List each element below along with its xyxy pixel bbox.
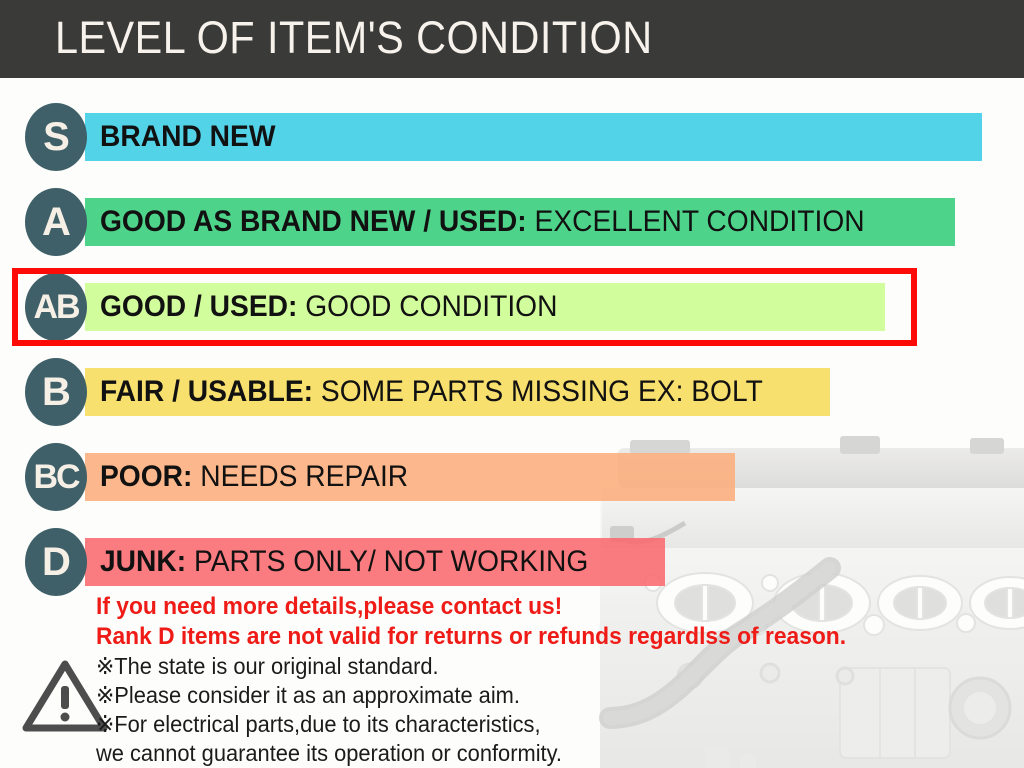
rank-label-a: GOOD AS BRAND NEW / USED: EXCELLENT COND… [100,198,865,246]
rank-label-bold: FAIR / USABLE: [100,375,313,408]
rank-label-bold: POOR: [100,460,192,493]
rank-label-b: FAIR / USABLE: SOME PARTS MISSING EX: BO… [100,368,763,416]
note-black-line: ※The state is our original standard. [96,652,980,681]
rank-label-bold: JUNK: [100,545,186,578]
note-black-line: ※For electrical parts,due to its charact… [96,710,980,739]
rank-badge-bc: BC [25,443,87,511]
footer-notes: If you need more details,please contact … [96,592,1024,768]
rank-badge-a: A [25,188,87,256]
rank-label-regular: SOME PARTS MISSING EX: BOLT [313,375,763,408]
condition-level-infographic: LEVEL OF ITEM'S CONDITION BRAND NEWSGOOD… [0,0,1024,768]
note-black-line: we cannot guarantee its operation or con… [96,739,980,768]
rank-label-s: BRAND NEW [100,113,275,161]
rank-label-bc: POOR: NEEDS REPAIR [100,453,408,501]
page-title: LEVEL OF ITEM'S CONDITION [55,12,653,64]
rank-badge-s: S [25,103,87,171]
note-black-line: ※Please consider it as an approximate ai… [96,681,980,710]
rank-badge-b: B [25,358,87,426]
rank-label-regular: NEEDS REPAIR [192,460,408,493]
rank-label-bold: GOOD AS BRAND NEW / USED: [100,205,527,238]
note-red-line: If you need more details,please contact … [96,592,980,622]
rank-label-regular: EXCELLENT CONDITION [527,205,865,238]
rank-label-regular: PARTS ONLY/ NOT WORKING [186,545,588,578]
rank-badge-d: D [25,528,87,596]
rank-label-bold: BRAND NEW [100,120,275,153]
header-bar: LEVEL OF ITEM'S CONDITION [0,0,1024,78]
rank-label-d: JUNK: PARTS ONLY/ NOT WORKING [100,538,588,586]
ab-rank-highlight-box [12,268,917,346]
note-red-line: Rank D items are not valid for returns o… [96,622,980,652]
